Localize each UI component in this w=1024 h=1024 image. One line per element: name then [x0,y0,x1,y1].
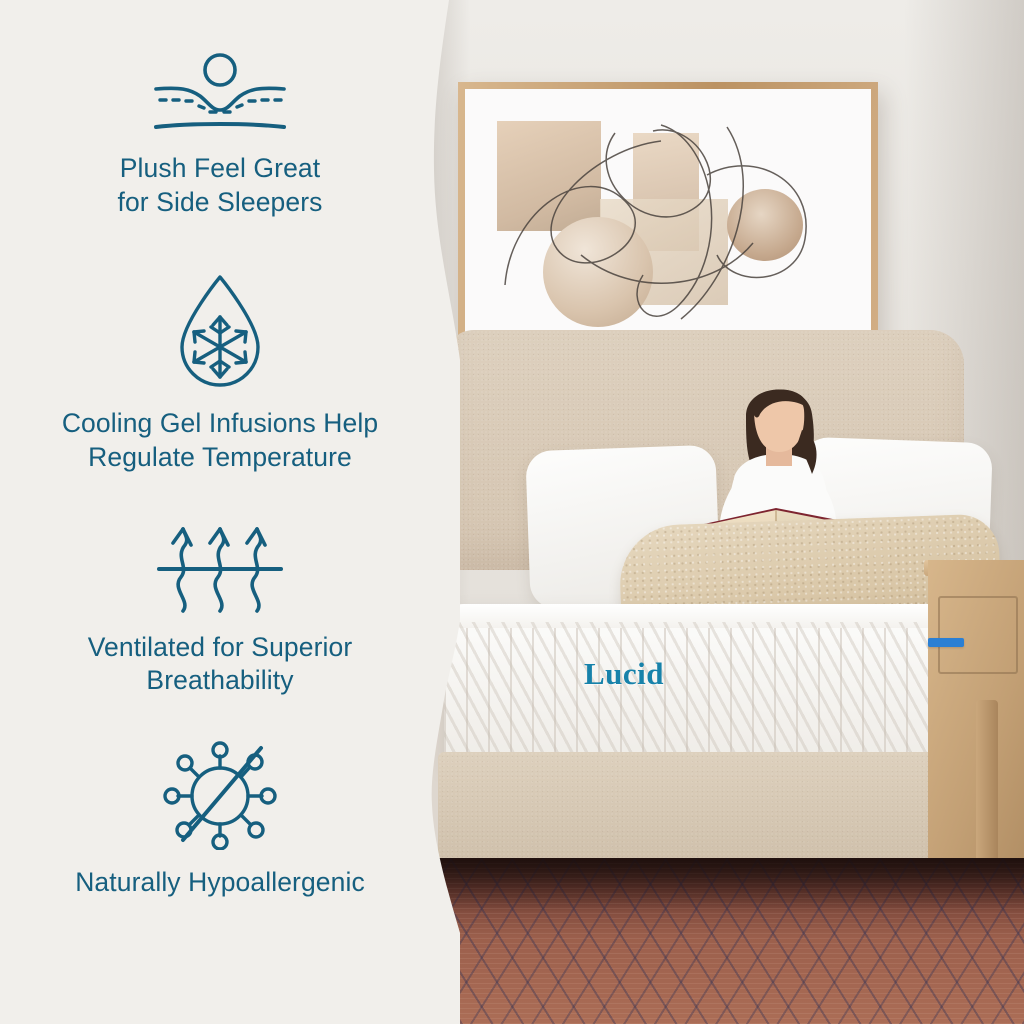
product-feature-graphic: Lucid [0,0,1024,1024]
art-canvas [465,89,871,355]
bedroom-photo: Lucid [430,0,1024,1024]
ventilation-airflow-arrows-icon [155,519,285,615]
area-rug [430,858,1024,1024]
feature-label: Plush Feel Great for Side Sleepers [0,152,440,219]
feature-item-ventilated: Ventilated for Superior Breathability [0,519,440,698]
art-line-squiggles [465,89,871,355]
plush-contour-icon [150,52,290,136]
nightstand-drawer-panel [938,596,1018,674]
feature-label: Cooling Gel Infusions Help Regulate Temp… [0,407,440,474]
feature-label: Naturally Hypoallergenic [0,866,440,900]
cooling-droplet-snowflake-icon [174,271,266,391]
framed-abstract-art [458,82,878,362]
feature-item-plush: Plush Feel Great for Side Sleepers [0,52,440,219]
under-bed-shadow [430,858,1024,912]
feature-item-hypoallergenic: Naturally Hypoallergenic [0,740,440,900]
lucid-logo: Lucid [584,656,664,692]
feature-item-cooling: Cooling Gel Infusions Help Regulate Temp… [0,271,440,474]
hypoallergenic-germ-slash-icon [161,740,279,850]
mattress-blue-tag [928,638,964,647]
feature-label: Ventilated for Superior Breathability [0,631,440,698]
feature-list: Plush Feel Great for Side Sleepers [0,0,440,1024]
